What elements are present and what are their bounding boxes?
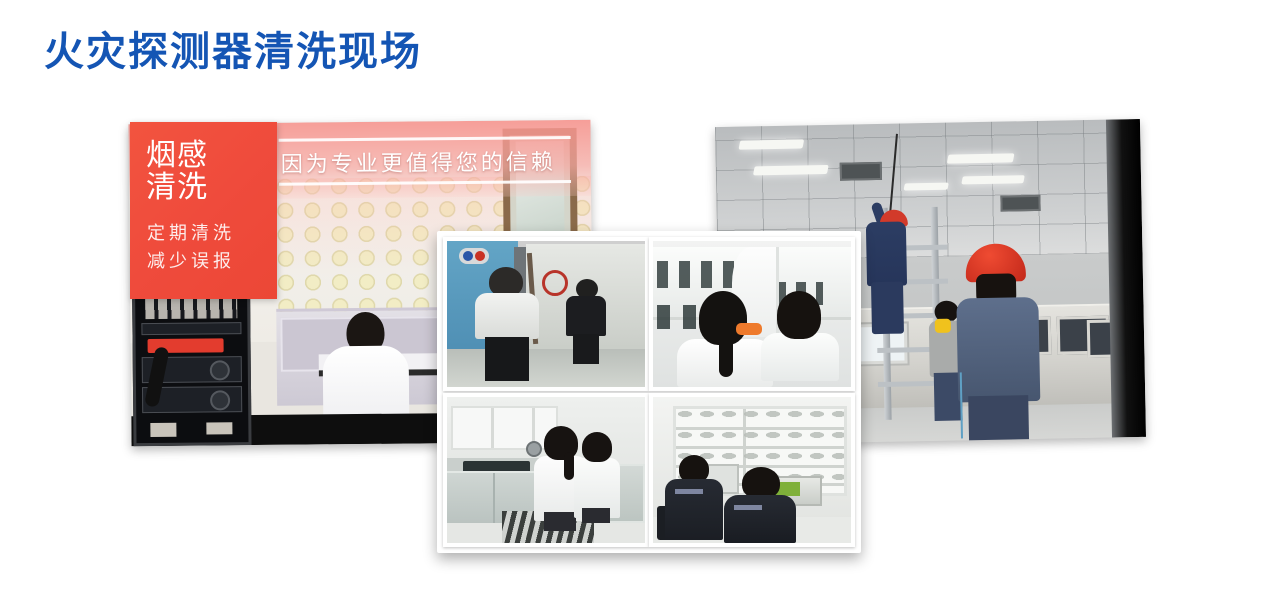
ceiling-light <box>961 175 1025 184</box>
badge-subtext-line2: 减少误报 <box>147 248 235 276</box>
technician-ponytail <box>719 333 733 377</box>
worker-on-ladder <box>861 183 910 326</box>
dark-edge-column <box>1106 119 1146 438</box>
cabinet-divider <box>493 473 495 526</box>
worker-torso <box>866 221 907 286</box>
worker-foreground-red-helmet <box>953 243 1043 441</box>
ceiling-light <box>738 139 804 149</box>
wash-room-scene <box>447 397 645 543</box>
logo-dot-red <box>475 251 485 261</box>
technician-legs <box>544 512 576 531</box>
collage-cell-disassembly <box>649 237 855 391</box>
person-inspector <box>475 267 539 381</box>
page-title: 火灾探测器清洗现场 <box>44 30 422 74</box>
detector-held-in-hand <box>526 441 542 457</box>
ceiling-air-vent <box>1000 195 1040 212</box>
uniform-back-print <box>675 489 703 494</box>
badge-headline-line1: 烟感 <box>146 140 208 172</box>
logo-dot-blue <box>463 251 473 261</box>
badge-headline-line2: 清洗 <box>146 172 208 204</box>
ceiling-light <box>947 153 1015 163</box>
control-equipment-rack <box>132 273 252 446</box>
orange-hand-tool <box>736 323 762 335</box>
technician-legs <box>582 508 610 522</box>
rack-dial-knob <box>210 360 230 380</box>
person-trousers <box>573 334 599 364</box>
photo-collage-center <box>437 231 861 553</box>
slogan-text: 因为专业更值得您的信赖 <box>281 144 556 179</box>
technician-tester <box>724 467 796 543</box>
badge-headline: 烟感 清洗 <box>146 140 208 205</box>
rack-display <box>206 422 232 434</box>
collage-cell-ultrasonic-wash <box>443 393 649 547</box>
clean-bench-scene <box>653 241 851 387</box>
testing-room-scene <box>653 397 851 543</box>
technician-woman <box>677 291 773 387</box>
badge-subtext-line1: 定期清洗 <box>147 220 235 248</box>
collage-grid <box>443 237 855 547</box>
corridor-scene <box>447 241 645 387</box>
technician-hair <box>582 432 612 462</box>
person-staff <box>566 279 606 364</box>
worker-legs <box>968 395 1029 444</box>
ceiling-light <box>753 165 829 175</box>
rack-display <box>150 423 176 437</box>
ceiling-light <box>903 183 948 191</box>
technician-ponytail <box>564 452 574 480</box>
page-root: 火灾探测器清洗现场 <box>0 0 1280 615</box>
collage-cell-inspection <box>443 237 649 391</box>
rack-dial-knob <box>210 390 230 410</box>
technician-assisting <box>574 432 620 523</box>
badge-subtext: 定期清洗 减少误报 <box>147 220 235 276</box>
ceiling-air-vent <box>840 162 882 181</box>
yellow-glove <box>935 319 951 333</box>
technician-operator <box>665 455 723 540</box>
worker-legs <box>871 282 904 335</box>
person-uniform <box>566 296 606 336</box>
worker-torso <box>956 297 1040 403</box>
wall-logo-plaque <box>459 248 489 264</box>
person-shirt <box>475 293 539 339</box>
technician-woman <box>761 291 839 382</box>
uniform-back-print <box>734 505 762 510</box>
collage-cell-testing <box>649 393 855 547</box>
technician-uniform <box>665 479 723 540</box>
technician-uniform <box>724 495 796 543</box>
person-trousers <box>485 337 529 381</box>
promo-badge: 烟感 清洗 定期清洗 减少误报 <box>130 122 277 299</box>
technician-hair <box>777 291 821 339</box>
lab-coat <box>761 333 839 382</box>
rack-panel <box>141 322 241 335</box>
